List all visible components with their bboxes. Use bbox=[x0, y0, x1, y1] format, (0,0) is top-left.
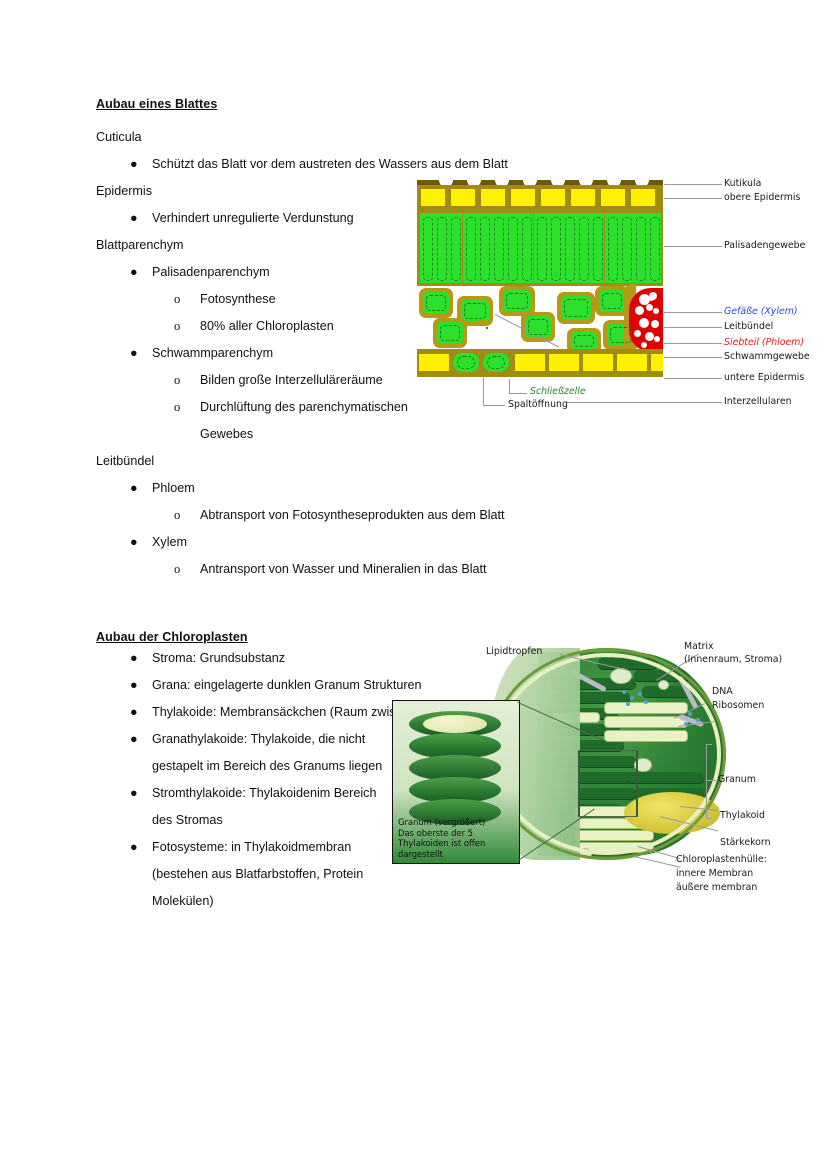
epidermis-cell bbox=[571, 189, 595, 206]
label-schwammgewebe: Schwammgewebe bbox=[724, 351, 810, 362]
leader-line-granum bbox=[706, 780, 716, 781]
leader-line-leitbuendel bbox=[664, 327, 722, 328]
label-untere-epidermis: untere Epidermis bbox=[724, 372, 804, 383]
list-item-label: Schwammparenchym bbox=[152, 346, 273, 360]
source-region-edge-top bbox=[578, 750, 638, 751]
bullet-dot: ● bbox=[130, 259, 138, 286]
list-item-label: Phloem bbox=[152, 481, 195, 495]
granum-inset-box: Granum (vergrößert) Das oberste der 5 Th… bbox=[392, 700, 520, 864]
bullet-dot: ● bbox=[130, 529, 138, 556]
sublist-phloem: o Abtransport von Fotosyntheseprodukten … bbox=[152, 502, 556, 529]
palisade-layer bbox=[417, 210, 663, 286]
palisade-cell bbox=[619, 213, 633, 283]
label-innere-membran: innere Membran bbox=[676, 868, 753, 879]
palisade-cell bbox=[590, 213, 604, 283]
leader-line-schliesszelle-h bbox=[509, 393, 527, 394]
granum-bracket-bottom bbox=[706, 818, 712, 819]
leader-line-kutikula bbox=[664, 184, 722, 185]
sublist-xylem: o Antransport von Wasser und Mineralien … bbox=[152, 556, 556, 583]
granum-bracket-top bbox=[706, 744, 712, 745]
bullet-dot: ● bbox=[130, 475, 138, 502]
bullet-circle: o bbox=[174, 394, 180, 421]
leader-line-untere-epidermis bbox=[664, 378, 722, 379]
palisade-cell bbox=[477, 213, 491, 283]
epidermis-cell bbox=[419, 354, 449, 371]
inset-caption-line4: dargestellt bbox=[398, 849, 516, 859]
term-leitbuendel: Leitbündel bbox=[96, 448, 556, 475]
vascular-bundle-xylem-phloem bbox=[629, 288, 663, 352]
palisade-cell bbox=[548, 213, 562, 283]
label-matrix: Matrix bbox=[684, 641, 714, 652]
leader-line-obere-epidermis bbox=[664, 198, 722, 199]
vascular-vessel bbox=[641, 342, 647, 348]
bullet-circle: o bbox=[174, 502, 180, 529]
label-spaltoeffnung: Spaltöffnung bbox=[508, 399, 568, 410]
list-item-label: Verhindert unregulierte Verdunstung bbox=[152, 211, 354, 225]
source-region-edge-left bbox=[578, 750, 580, 816]
list-item-label: Palisadenparenchym bbox=[152, 265, 270, 279]
epidermis-cell bbox=[421, 189, 445, 206]
palisade-cell bbox=[434, 213, 448, 283]
open-thylakoid-disc bbox=[423, 715, 487, 733]
label-dna: DNA bbox=[712, 686, 733, 697]
palisade-cell bbox=[491, 213, 505, 283]
label-thylakoid: Thylakoid bbox=[720, 810, 765, 821]
bullet-dot: ● bbox=[130, 780, 138, 807]
list-item-label: Stroma: Grundsubstanz bbox=[152, 651, 285, 665]
leader-line-aeussere-membran bbox=[634, 856, 681, 868]
section-heading-leaf: Aubau eines Blattes bbox=[96, 96, 556, 112]
label-gefaesse-xylem: Gefäße (Xylem) bbox=[724, 306, 798, 317]
inset-caption-line1: Granum (vergrößert) bbox=[398, 817, 516, 827]
bullet-dot: ● bbox=[130, 205, 138, 232]
list-item-label: Stromthylakoide: Thylakoidenim Bereich d… bbox=[152, 786, 376, 827]
palisade-cell bbox=[505, 213, 519, 283]
label-leitbuendel: Leitbündel bbox=[724, 321, 773, 332]
vascular-vessel bbox=[653, 308, 659, 314]
sublist-item-label: Bilden große Interzelluläreräume bbox=[200, 373, 383, 387]
list-item: ● Granathylakoide: Thylakoide, die nicht… bbox=[96, 726, 384, 780]
chloroplast-figure: Granum (vergrößert) Das oberste der 5 Th… bbox=[388, 640, 828, 905]
vascular-vessel bbox=[635, 306, 644, 315]
epidermis-cell bbox=[617, 354, 647, 371]
source-region-edge-right bbox=[636, 750, 638, 816]
leader-line-spaltoeffnung-v bbox=[483, 377, 484, 405]
label-interzellularen: Interzellularen bbox=[724, 396, 792, 407]
list-item: ● Stromthylakoide: Thylakoidenim Bereich… bbox=[96, 780, 384, 834]
palisade-cell bbox=[448, 213, 462, 283]
bullet-dot: ● bbox=[130, 834, 138, 861]
epidermis-cell bbox=[549, 354, 579, 371]
leader-line-gefaesse bbox=[664, 312, 722, 313]
granum-bracket bbox=[706, 744, 707, 818]
label-kutikula: Kutikula bbox=[724, 178, 761, 189]
list-item: ● Fotosysteme: in Thylakoidmembran (best… bbox=[96, 834, 388, 915]
spongy-cell bbox=[557, 292, 595, 324]
bullet-circle: o bbox=[174, 313, 180, 340]
vascular-vessel bbox=[639, 318, 649, 328]
bullet-dot: ● bbox=[130, 672, 138, 699]
sublist-item-label: Durchlüftung des parenchymatischen Geweb… bbox=[200, 400, 408, 441]
spongy-cell bbox=[419, 288, 453, 318]
palisade-cell bbox=[519, 213, 533, 283]
vascular-vessel bbox=[645, 332, 654, 341]
list-item-label: Schützt das Blatt vor dem austreten des … bbox=[152, 157, 508, 171]
list-cuticula: ● Schützt das Blatt vor dem austreten de… bbox=[96, 151, 556, 178]
bullet-dot: ● bbox=[130, 340, 138, 367]
label-schliesszelle: Schließzelle bbox=[530, 386, 586, 397]
leader-line-siebteil bbox=[664, 343, 722, 344]
bullet-dot: ● bbox=[130, 151, 138, 178]
label-ribosomen: Ribosomen bbox=[712, 700, 764, 711]
inset-caption-line3: Thylakoiden ist offen bbox=[398, 838, 516, 848]
palisade-cell bbox=[420, 213, 434, 283]
spongy-cell bbox=[479, 320, 485, 324]
leaf-image bbox=[417, 180, 663, 385]
vascular-vessel bbox=[654, 336, 660, 342]
label-palisadengewebe: Palisadengewebe bbox=[724, 240, 805, 251]
bullet-circle: o bbox=[174, 286, 180, 313]
list-item-label: Fotosysteme: in Thylakoidmembran (besteh… bbox=[152, 840, 363, 908]
list-item-label: Granathylakoide: Thylakoide, die nicht g… bbox=[152, 732, 382, 773]
epidermis-cell bbox=[481, 189, 505, 206]
palisade-cell bbox=[647, 213, 661, 283]
epidermis-cell bbox=[451, 189, 475, 206]
label-aeussere-membran: äußere membran bbox=[676, 882, 757, 893]
vascular-vessel bbox=[649, 296, 654, 301]
label-chloroplastenhuelle: Chloroplastenhülle: bbox=[676, 854, 767, 865]
palisade-cell bbox=[576, 213, 590, 283]
palisade-cell bbox=[633, 213, 647, 283]
list-item: ● Schützt das Blatt vor dem austreten de… bbox=[96, 151, 556, 178]
list-item: ● Phloem o Abtransport von Fotosynthesep… bbox=[96, 475, 556, 529]
bullet-dot: ● bbox=[130, 726, 138, 753]
epidermis-cell bbox=[583, 354, 613, 371]
guard-cell bbox=[483, 353, 509, 372]
epidermis-cell bbox=[651, 354, 663, 371]
granum-inset-caption: Granum (vergrößert) Das oberste der 5 Th… bbox=[398, 817, 516, 859]
label-staerkekorn: Stärkekorn bbox=[720, 837, 771, 848]
palisade-cell bbox=[534, 213, 548, 283]
epidermis-cell bbox=[631, 189, 655, 206]
leader-line-schliesszelle-v bbox=[509, 379, 510, 393]
term-cuticula: Cuticula bbox=[96, 124, 556, 151]
label-granum: Granum bbox=[718, 774, 756, 785]
label-siebteil-phloem: Siebteil (Phloem) bbox=[724, 337, 804, 348]
sublist-item-label: Antransport von Wasser und Mineralien in… bbox=[200, 562, 487, 576]
guard-cell bbox=[453, 353, 479, 372]
leader-line-palisadengewebe bbox=[664, 246, 722, 247]
leader-line-spaltoeffnung-h bbox=[483, 405, 505, 406]
vascular-vessel bbox=[646, 304, 653, 311]
bullet-dot: ● bbox=[130, 699, 138, 726]
sublist-item-label: Abtransport von Fotosyntheseprodukten au… bbox=[200, 508, 505, 522]
list-leitbuendel: ● Phloem o Abtransport von Fotosynthesep… bbox=[96, 475, 556, 583]
spongy-cell bbox=[433, 318, 467, 348]
granum-stack bbox=[409, 711, 501, 821]
leader-line-schwammgewebe bbox=[664, 357, 722, 358]
palisade-cell bbox=[562, 213, 576, 283]
sublist-item: o Bilden große Interzelluläreräume bbox=[152, 367, 400, 394]
label-lipidtropfen: Lipidtropfen bbox=[486, 646, 542, 657]
epidermis-cell bbox=[541, 189, 565, 206]
inner-membrane bbox=[493, 653, 721, 855]
epidermis-cell bbox=[601, 189, 625, 206]
list-item-label: Xylem bbox=[152, 535, 187, 549]
epidermis-cell bbox=[515, 354, 545, 371]
palisade-cell bbox=[463, 213, 477, 283]
palisade-cell bbox=[605, 213, 619, 283]
sublist-item-label: 80% aller Chloroplasten bbox=[200, 319, 334, 333]
upper-epidermis-layer bbox=[417, 185, 663, 210]
inset-caption-line2: Das oberste der 5 bbox=[398, 828, 516, 838]
lower-epidermis-layer bbox=[417, 349, 663, 377]
list-item: ● Xylem o Antransport von Wasser und Min… bbox=[96, 529, 556, 583]
bullet-circle: o bbox=[174, 556, 180, 583]
source-region-edge-bottom bbox=[578, 816, 638, 817]
sublist-item-label: Fotosynthese bbox=[200, 292, 276, 306]
label-matrix-detail: (Innenraum, Stroma) bbox=[684, 654, 782, 665]
sublist-item: o Antransport von Wasser und Mineralien … bbox=[152, 556, 556, 583]
vascular-vessel bbox=[634, 330, 641, 337]
bullet-circle: o bbox=[174, 367, 180, 394]
label-obere-epidermis: obere Epidermis bbox=[724, 192, 800, 203]
document-page: Aubau eines Blattes Cuticula ● Schützt d… bbox=[0, 0, 828, 1171]
sublist-item: o Abtransport von Fotosyntheseprodukten … bbox=[152, 502, 556, 529]
epidermis-cell bbox=[511, 189, 535, 206]
leader-line-interzellularen-out bbox=[567, 402, 722, 403]
bullet-dot: ● bbox=[130, 645, 138, 672]
list-item-label: Grana: eingelagerte dunklen Granum Struk… bbox=[152, 678, 422, 692]
leaf-cross-section-figure: Kutikula obere Epidermis Palisadengewebe… bbox=[417, 180, 828, 420]
sublist-item: o Durchlüftung des parenchymatischen Gew… bbox=[152, 394, 412, 448]
vascular-vessel bbox=[651, 320, 659, 328]
